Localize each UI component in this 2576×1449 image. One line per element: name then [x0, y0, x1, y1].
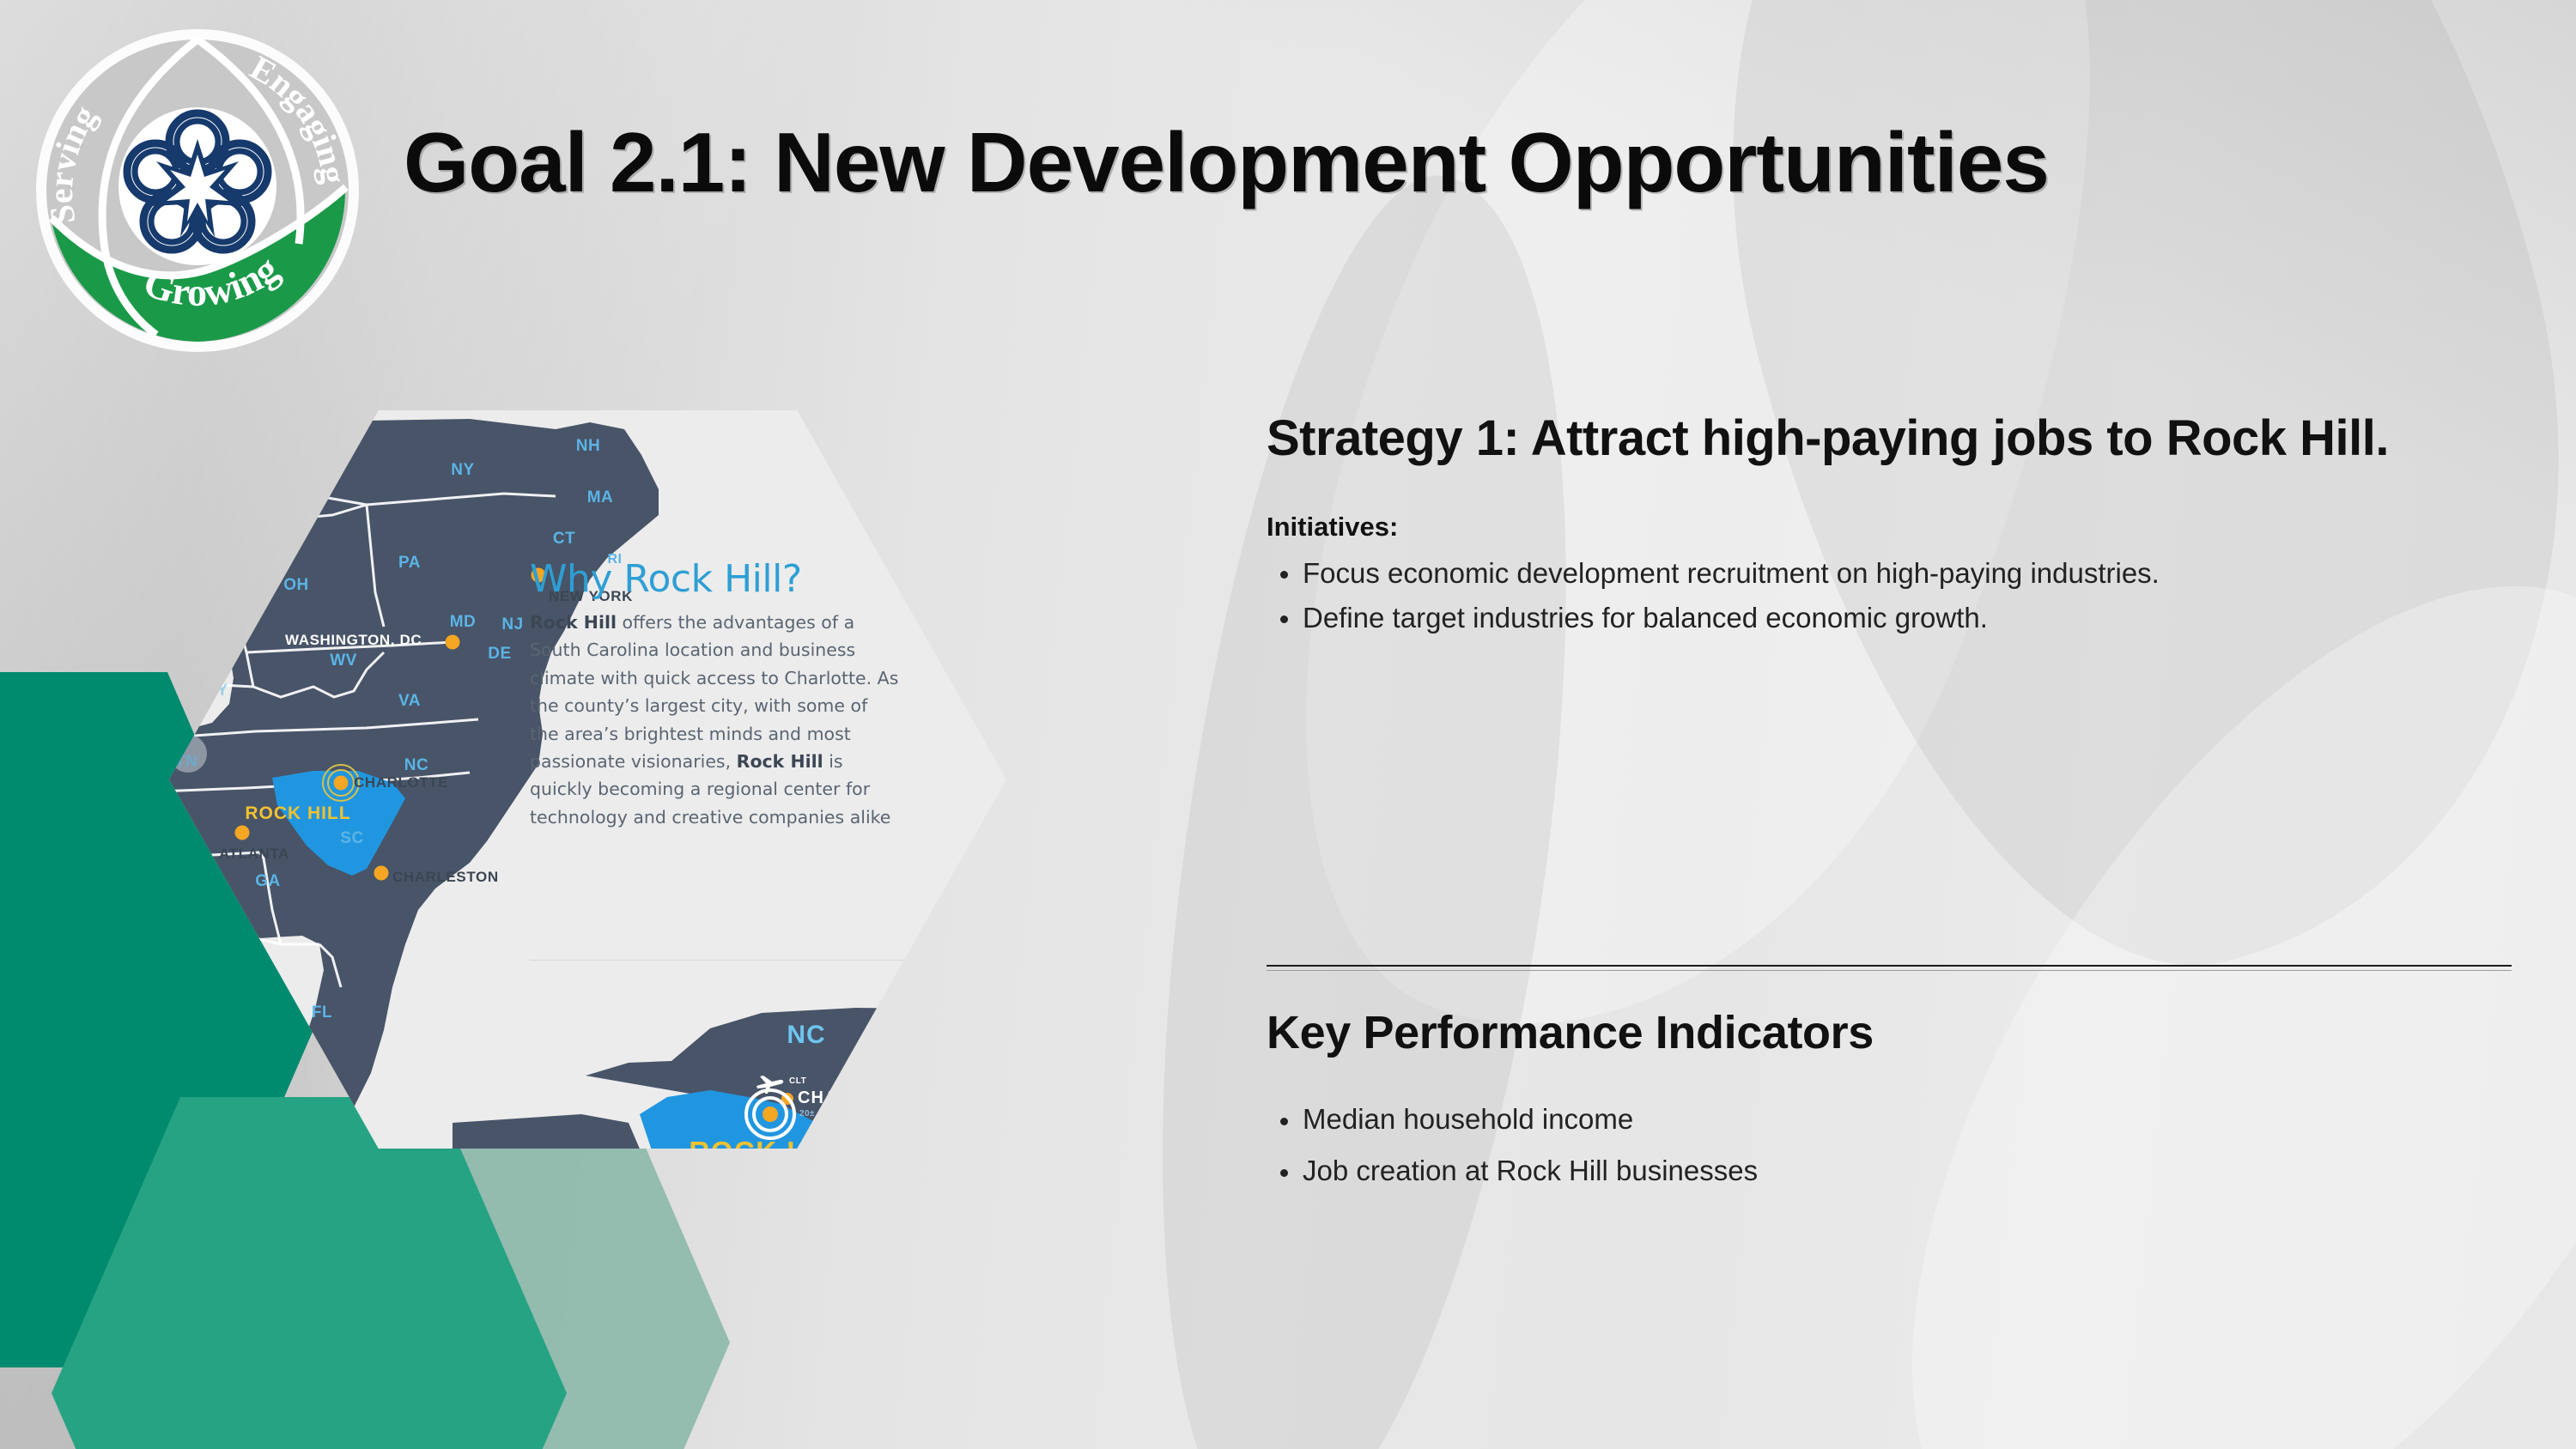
why-rock-hill-card: Why Rock Hill? Rock Hill offers the adva…	[530, 561, 899, 831]
kpi-heading: Key Performance Indicators	[1267, 1006, 2512, 1059]
inset-map-nc-sc: NC SC RALEIGH 180± miles CLT CHARLOTTE 2…	[453, 994, 1006, 1149]
list-item: Median household income	[1267, 1099, 2512, 1140]
section-divider	[1267, 965, 2512, 971]
city-dot-washington-dc	[446, 635, 460, 650]
state-label: MA	[587, 488, 614, 507]
state-label: NC	[404, 756, 428, 775]
strategy-heading: Strategy 1: Attract high-paying jobs to …	[1267, 410, 2512, 467]
why-body-text-1: offers the advantages of a South Carolin…	[530, 612, 898, 772]
inset-map-shapes	[453, 994, 1006, 1149]
page-title: Goal 2.1: New Development Opportunities	[404, 120, 2550, 204]
city-label-charleston: CHARLESTON	[392, 869, 499, 886]
inset-dot-raleigh	[903, 1038, 912, 1046]
city-label-charlotte: CHARLOTTE	[354, 774, 448, 791]
slide-canvas: NY NH MA CT RI PA OH MD NJ DE WV VA KY N…	[0, 0, 2576, 1449]
why-body-bold-2: Rock Hill	[737, 751, 823, 772]
kpi-section: Key Performance Indicators Median househ…	[1267, 1006, 2512, 1202]
list-item: Define target industries for balanced ec…	[1267, 597, 2512, 639]
inset-rock-hill-label: ROCK HILL	[689, 1136, 854, 1149]
why-card-divider	[530, 960, 908, 961]
state-label: WV	[330, 652, 357, 670]
why-body-bold-1: Rock Hill	[530, 612, 617, 633]
state-label: NY	[451, 461, 474, 480]
state-label: PA	[398, 554, 421, 573]
state-label: KY	[204, 682, 228, 700]
kpi-list: Median household income Job creation at …	[1267, 1099, 2512, 1191]
city-label-washington-dc: WASHINGTON, DC	[285, 632, 422, 649]
airport-code-clt: CLT	[789, 1076, 806, 1086]
right-content-column: Strategy 1: Attract high-paying jobs to …	[1267, 410, 2512, 642]
why-rock-hill-body: Rock Hill offers the advantages of a Sou…	[530, 609, 899, 831]
state-label: SC	[340, 829, 363, 848]
state-label: DE	[488, 645, 511, 664]
state-label: NJ	[501, 615, 523, 634]
state-label: VA	[398, 692, 421, 711]
state-label: FL	[312, 1003, 332, 1022]
initiatives-label: Initiatives:	[1267, 512, 2512, 543]
inset-dot-rock-hill	[762, 1106, 778, 1122]
state-label: MD	[450, 613, 477, 632]
inset-sub-charlotte: 20± miles via I-77	[799, 1109, 876, 1119]
why-rock-hill-title: Why Rock Hill?	[530, 561, 899, 598]
city-label-atlanta: ATLANTA	[219, 846, 289, 863]
city-of-rock-hill-logo: Serving Engaging Growing	[26, 19, 369, 362]
background-decoration	[1091, 154, 1640, 1449]
inset-city-charlotte: CHARLOTTE	[798, 1088, 911, 1108]
city-dot-charleston	[374, 866, 389, 881]
list-item: Job creation at Rock Hill businesses	[1267, 1150, 2512, 1191]
state-label: GA	[255, 872, 281, 891]
state-label: OH	[283, 576, 309, 595]
state-label: CT	[553, 530, 575, 549]
list-item: Focus economic development recruitment o…	[1267, 553, 2512, 594]
city-dot-charlotte	[334, 776, 349, 791]
city-dot-atlanta	[235, 826, 250, 840]
inset-state-label-nc: NC	[787, 1021, 825, 1050]
inset-city-raleigh: RALEIGH	[920, 1033, 990, 1050]
inset-sub-raleigh: 180± miles	[945, 1051, 993, 1060]
rock-hill-label-main: ROCK HILL	[245, 803, 350, 824]
initiatives-list: Focus economic development recruitment o…	[1267, 553, 2512, 639]
state-label: NH	[576, 437, 600, 456]
